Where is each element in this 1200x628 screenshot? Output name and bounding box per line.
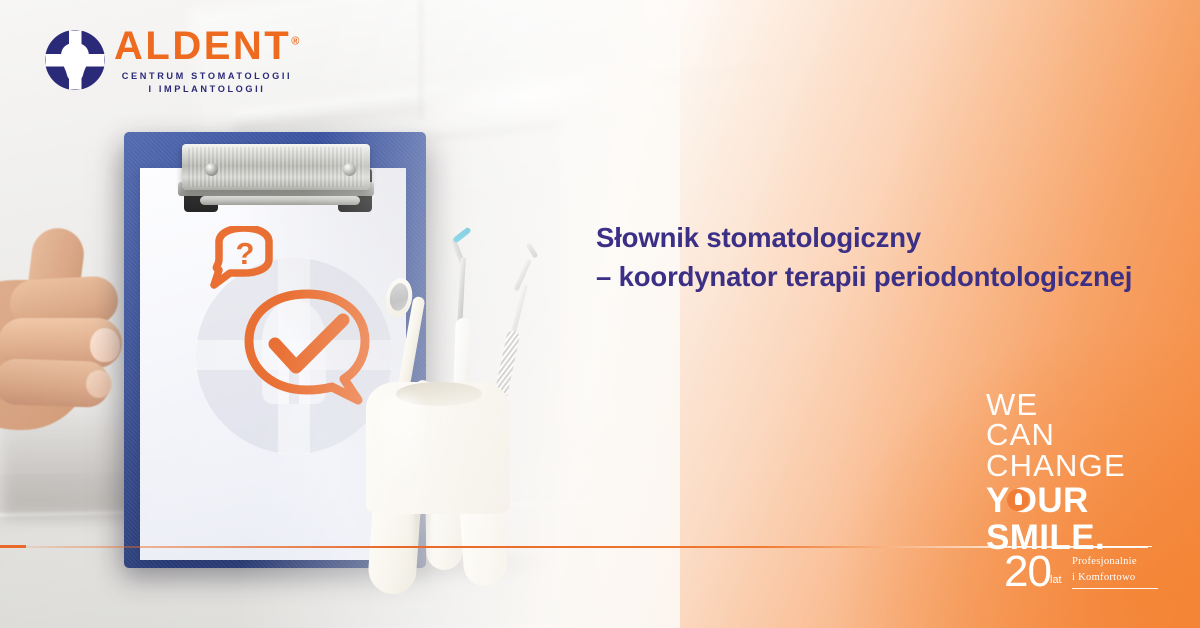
anniversary-unit: lat [1050,574,1062,586]
tooth-in-cross-circle-icon [44,29,106,91]
logo-wordmark: ALDENT® CENTRUM STOMATOLOGII I IMPLANTOL… [114,26,314,97]
logo-word: ALDENT® [114,26,314,66]
slogan-line-2: CAN [986,420,1156,450]
logo-word-text: ALDENT [114,24,291,68]
anniversary-tagline-line1: Profesjonalnie [1072,554,1137,570]
slogan-line-1: WE [986,390,1156,420]
divider-rule [0,546,1148,548]
anniversary-tagline-line2: i Komfortowo [1072,570,1137,586]
tooth-circle-mark-icon [1007,489,1029,511]
divider-rule-cap [0,545,26,548]
headline-line-2: – koordynator terapii periodontologiczne… [596,257,1184,296]
registered-mark-icon: ® [291,36,299,48]
anniversary-number: 20 [1004,550,1051,594]
logo-subtitle-line1: CENTRUM STOMATOLOGII [114,70,300,83]
logo-subtitle: CENTRUM STOMATOLOGII I IMPLANTOLOGII [114,70,300,97]
anniversary-underline [1072,588,1158,589]
slogan-line-4: YOUR [986,481,1089,520]
page-title: Słownik stomatologiczny – koordynator te… [596,218,1184,296]
slogan-your: YOUR [986,483,1089,518]
banner-canvas: ? [0,0,1200,628]
aldent-logo[interactable]: ALDENT® CENTRUM STOMATOLOGII I IMPLANTOL… [44,26,284,98]
anniversary-tagline: Profesjonalnie i Komfortowo [1072,554,1137,586]
slogan-line-4-wrap: YOUR [986,483,1156,518]
logo-subtitle-line2: I IMPLANTOLOGII [114,83,300,96]
headline-line-1: Słownik stomatologiczny [596,218,1184,257]
slogan-block: WE CAN CHANGE YOUR SMILE. [986,390,1156,555]
anniversary-badge: 20 lat Profesjonalnie i Komfortowo [1004,552,1164,600]
slogan-line-3: CHANGE [986,451,1156,481]
